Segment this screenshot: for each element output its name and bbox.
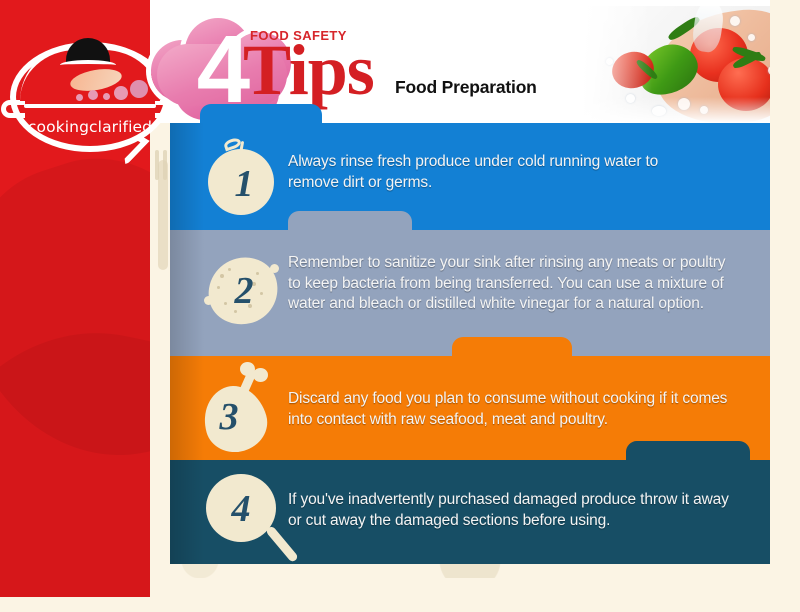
tip-text: Remember to sanitize your sink after rin… <box>288 253 740 315</box>
tips-list: 1 Always rinse fresh produce under cold … <box>170 123 770 578</box>
drumstick-knob-icon <box>253 368 268 382</box>
bubble-icon <box>76 94 83 101</box>
panel-edge-shadow <box>170 460 204 564</box>
tip-text: Discard any food you plan to consume wit… <box>288 389 728 430</box>
headline-title: Tips <box>243 34 374 106</box>
title-block: Tips FOOD SAFETY Food Preparation <box>243 22 583 102</box>
tip-panel-1[interactable]: 1 Always rinse fresh produce under cold … <box>170 123 770 230</box>
tip-text: Always rinse fresh produce under cold ru… <box>288 152 708 193</box>
right-margin <box>770 0 800 612</box>
water-droplet <box>730 16 740 26</box>
panel-edge-shadow <box>170 123 204 230</box>
tip-number: 4 <box>206 490 276 528</box>
tip-number: 1 <box>208 165 280 203</box>
photo-bottom-fade <box>582 97 800 123</box>
bottom-strip <box>150 578 800 612</box>
pot-lid-rim <box>24 104 156 108</box>
tip-badge-3: 3 <box>198 360 284 456</box>
headline-subtitle: Food Preparation <box>395 77 537 98</box>
bubble-icon <box>114 86 128 100</box>
tip-panel-4[interactable]: 4 If you've inadvertently purchased dama… <box>170 460 770 564</box>
water-droplet <box>748 34 755 41</box>
bubble-icon <box>103 93 110 100</box>
tip-number: 3 <box>186 398 272 436</box>
tip-badge-1: 1 <box>208 141 280 215</box>
tip-text: If you've inadvertently purchased damage… <box>288 490 738 531</box>
tip-badge-2: 2 <box>204 252 284 332</box>
bubble-icon <box>88 90 98 100</box>
infographic-page: cookingclarified 4 Tips FOOD SAFETY Food… <box>0 0 800 612</box>
lemon-texture-dot <box>228 268 231 271</box>
headline-kicker: FOOD SAFETY <box>250 28 347 43</box>
panel-edge-shadow <box>170 230 204 356</box>
produce-washing-photo <box>582 6 800 123</box>
tip-number: 2 <box>204 272 284 310</box>
pot-handle-left-icon <box>1 100 25 118</box>
